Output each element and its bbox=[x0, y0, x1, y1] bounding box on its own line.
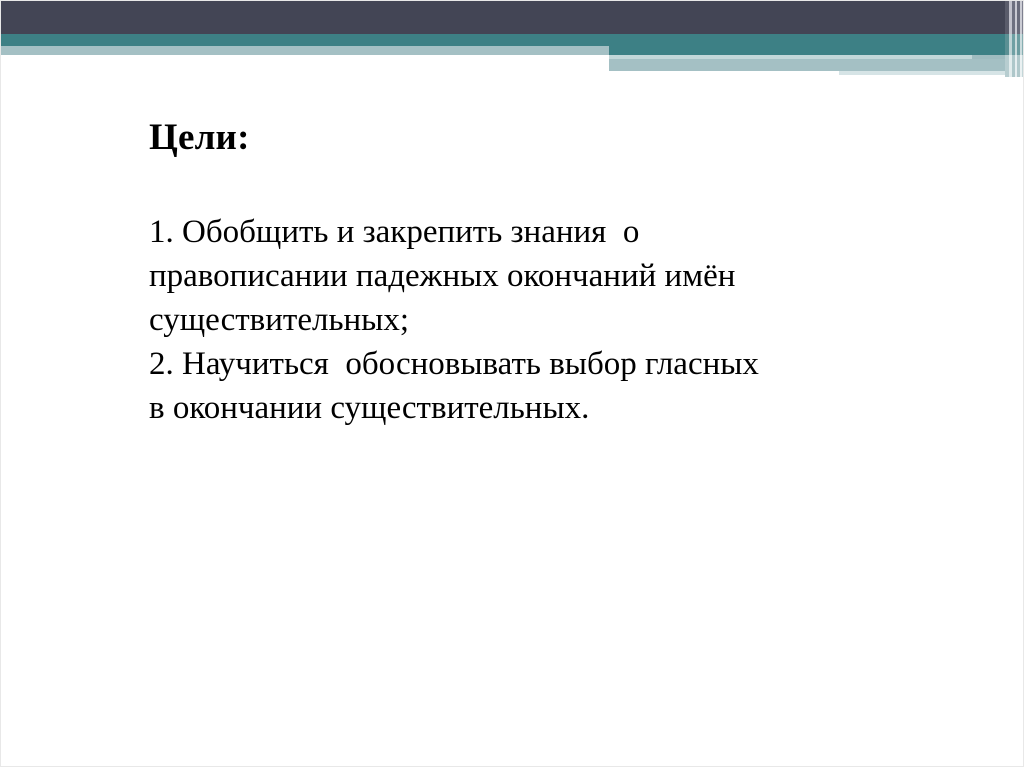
banner-white-gap bbox=[609, 71, 839, 81]
light-steel-bar-step bbox=[839, 59, 1024, 71]
presentation-slide: Цели: 1. Обобщить и закрепить знания о п… bbox=[0, 0, 1024, 767]
body-line: существительных; bbox=[149, 298, 979, 342]
body-line: 1. Обобщить и закрепить знания о bbox=[149, 210, 979, 254]
body-line: 2. Научиться обосновывать выбор гласных bbox=[149, 342, 979, 386]
light-steel-bar-left bbox=[1, 46, 609, 55]
dark-slate-bar bbox=[1, 1, 1005, 34]
slide-title: Цели: bbox=[149, 117, 949, 160]
body-line: в окончании существительных. bbox=[149, 386, 979, 430]
title-placeholder: Цели: bbox=[149, 117, 949, 160]
banner-fade-gap bbox=[839, 71, 1024, 75]
decorative-header-banner bbox=[1, 1, 1024, 81]
teal-bar-right-extension bbox=[609, 34, 1005, 55]
body-line: правописании падежных окончаний имён bbox=[149, 254, 979, 298]
body-placeholder: 1. Обобщить и закрепить знания о правопи… bbox=[149, 210, 979, 430]
